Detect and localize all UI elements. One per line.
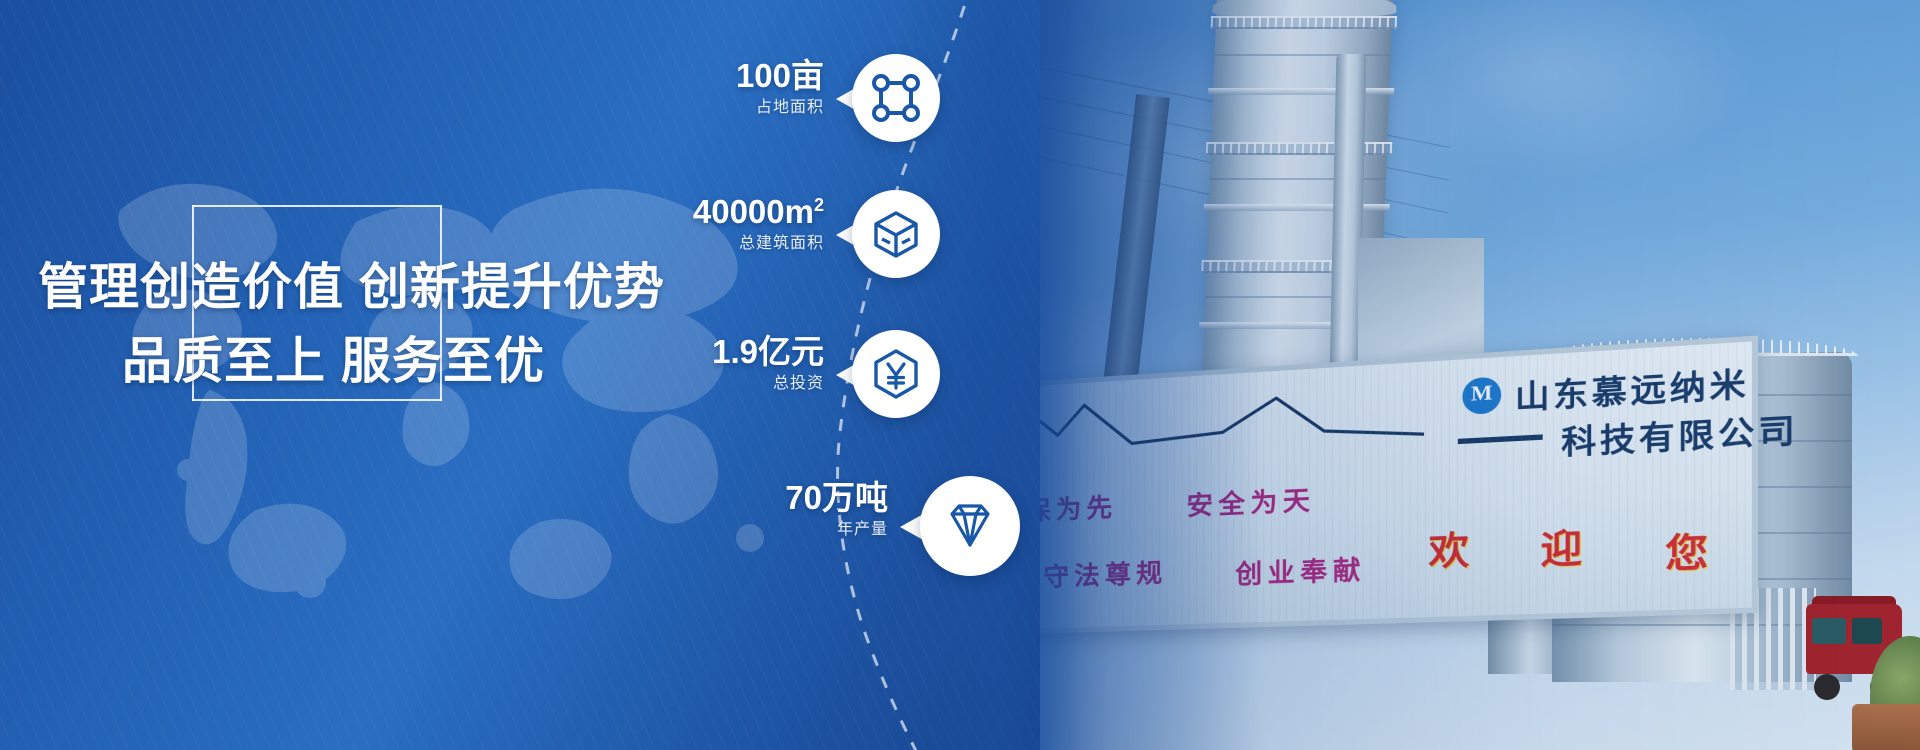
stat-total-investment: 1.9亿元 总投资 — [560, 332, 940, 428]
stat-pin-marker[interactable] — [836, 190, 940, 288]
stat-pin-marker[interactable] — [836, 330, 940, 428]
stat-text-group: 70万吨 年产量 — [785, 478, 888, 542]
frame-top-line — [192, 205, 442, 207]
stat-label: 总建筑面积 — [693, 232, 824, 256]
stat-building-area: 40000m2 总建筑面积 — [560, 192, 940, 288]
frame-bottom-line — [192, 399, 442, 401]
stat-annual-output: 70万吨 年产量 — [620, 478, 1020, 574]
stat-value-unit: m — [785, 193, 814, 230]
stat-value-superscript: 2 — [814, 195, 824, 215]
stat-label: 年产量 — [785, 518, 888, 542]
stat-value: 40000m2 — [693, 192, 824, 232]
stat-pin-marker[interactable] — [836, 54, 940, 152]
stat-value: 70万吨 — [785, 478, 888, 518]
stat-text-group: 40000m2 总建筑面积 — [693, 192, 824, 256]
yuan-hexagon-icon — [870, 348, 922, 400]
stat-value: 1.9亿元 — [712, 332, 824, 372]
diamond-icon — [942, 500, 998, 556]
stat-label: 总投资 — [712, 372, 824, 396]
stat-label: 占地面积 — [736, 96, 824, 120]
stat-value-number: 40000 — [693, 193, 785, 230]
stat-text-group: 1.9亿元 总投资 — [712, 332, 824, 396]
box-3d-icon — [870, 208, 922, 260]
factory-photo: 山东慕远纳米 科技有限公司 环保为先 安全为天 守法尊规 创业奉献 欢 迎 您 — [940, 0, 1920, 750]
stat-land-area: 100亩 占地面积 — [600, 56, 940, 152]
land-plot-icon — [870, 72, 922, 124]
photo-left-fade — [940, 0, 1920, 750]
hero-banner: 山东慕远纳米 科技有限公司 环保为先 安全为天 守法尊规 创业奉献 欢 迎 您 — [0, 0, 1920, 750]
stat-value: 100亩 — [736, 56, 824, 96]
stat-text-group: 100亩 占地面积 — [736, 56, 824, 120]
slogan-block: 管理创造价值 创新提升优势 品质至上 服务至优 — [30, 195, 590, 415]
stat-pin-marker[interactable] — [900, 476, 1020, 588]
slogan-line-2: 品质至上 服务至优 — [122, 321, 545, 393]
